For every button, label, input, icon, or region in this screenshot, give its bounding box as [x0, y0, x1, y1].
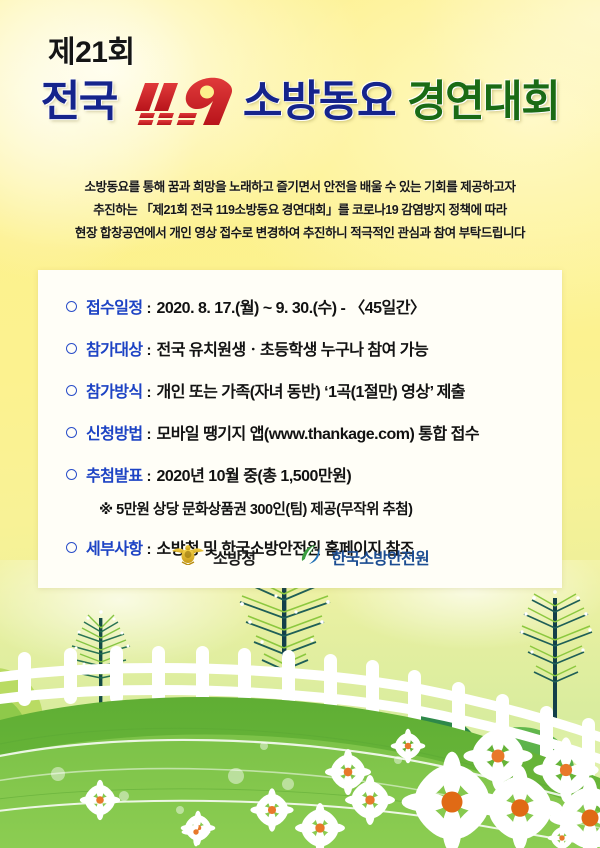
- info-colon: :: [146, 426, 151, 443]
- info-panel: 접수일정 : 2020. 8. 17.(월) ~ 9. 30.(수) - 〈45…: [38, 270, 562, 588]
- info-label: 참가대상: [86, 336, 142, 360]
- organization-logos: 소방청 한국소방안전원: [38, 543, 562, 570]
- title-part-jeonguk: 전국: [41, 80, 117, 125]
- logo-kfsi-label: 한국소방안전원: [331, 545, 428, 569]
- info-label: 추첨발표: [86, 462, 142, 486]
- info-value: 모바일 땡기지 앱(www.thankage.com) 통합 접수: [156, 420, 479, 444]
- circle-bullet-icon: [66, 385, 77, 396]
- info-colon: :: [146, 468, 151, 485]
- info-label: 접수일정: [86, 294, 142, 318]
- logo-nfa: 소방청: [171, 543, 255, 570]
- info-value: 전국 유치원생ㆍ초등학생 누구나 참여 가능: [156, 336, 428, 360]
- info-rows: 접수일정 : 2020. 8. 17.(월) ~ 9. 30.(수) - 〈45…: [38, 270, 562, 559]
- title-part-sobangdongyo: 소방동요: [243, 80, 395, 125]
- main-title: 전국: [0, 77, 600, 129]
- circle-bullet-icon: [66, 301, 77, 312]
- info-colon: :: [146, 384, 151, 401]
- info-value: 2020. 8. 17.(월) ~ 9. 30.(수) - 〈45일간〉: [156, 294, 425, 318]
- info-row-draw-announcement: 추첨발표 : 2020년 10월 중(총 1,500만원): [66, 462, 562, 486]
- info-row-application-method: 신청방법 : 모바일 땡기지 앱(www.thankage.com) 통합 접수: [66, 420, 562, 444]
- description-line-1: 소방동요를 통해 꿈과 희망을 노래하고 즐기면서 안전을 배울 수 있는 기회…: [22, 176, 578, 199]
- info-label: 참가방식: [86, 378, 142, 402]
- fire-agency-emblem-icon: [171, 543, 205, 570]
- info-row-eligibility: 참가대상 : 전국 유치원생ㆍ초등학생 누구나 참여 가능: [66, 336, 562, 360]
- info-colon: :: [146, 342, 151, 359]
- circle-bullet-icon: [66, 427, 77, 438]
- logo-nfa-label: 소방청: [213, 545, 255, 569]
- circle-bullet-icon: [66, 469, 77, 480]
- info-value: 2020년 10월 중(총 1,500만원): [156, 462, 351, 486]
- info-note-row: ※ 5만원 상당 문화상품권 300인(팀) 제공(무작위 추첨): [66, 498, 562, 519]
- logo-kfsi: 한국소방안전원: [299, 543, 428, 570]
- kfsi-symbol-icon: [299, 543, 323, 570]
- landscape-illustration: [0, 560, 600, 848]
- title-part-gyeongyeondaehoe: 경연대회: [407, 80, 559, 125]
- 119-logo-icon: [131, 77, 235, 129]
- description-line-3: 현장 합창공연에서 개인 영상 접수로 변경하여 추진하니 적극적인 관심과 참…: [22, 222, 578, 245]
- description-line-2: 추진하는 「제21회 전국 119소방동요 경연대회」를 코로나19 감염방지 …: [22, 199, 578, 222]
- poster-root: 제21회 전국: [0, 0, 600, 848]
- info-colon: :: [146, 300, 151, 317]
- circle-bullet-icon: [66, 343, 77, 354]
- info-value: 개인 또는 가족(자녀 동반) ‘1곡(1절만) 영상’ 제출: [156, 378, 465, 402]
- poster-header: 제21회 전국: [0, 38, 600, 129]
- description-paragraph: 소방동요를 통해 꿈과 희망을 노래하고 즐기면서 안전을 배울 수 있는 기회…: [0, 176, 600, 245]
- info-note: ※ 5만원 상당 문화상품권 300인(팀) 제공(무작위 추첨): [99, 498, 412, 519]
- info-row-participation-method: 참가방식 : 개인 또는 가족(자녀 동반) ‘1곡(1절만) 영상’ 제출: [66, 378, 562, 402]
- edition-number: 제21회: [0, 38, 600, 68]
- info-row-reception-schedule: 접수일정 : 2020. 8. 17.(월) ~ 9. 30.(수) - 〈45…: [66, 294, 562, 318]
- info-label: 신청방법: [86, 420, 142, 444]
